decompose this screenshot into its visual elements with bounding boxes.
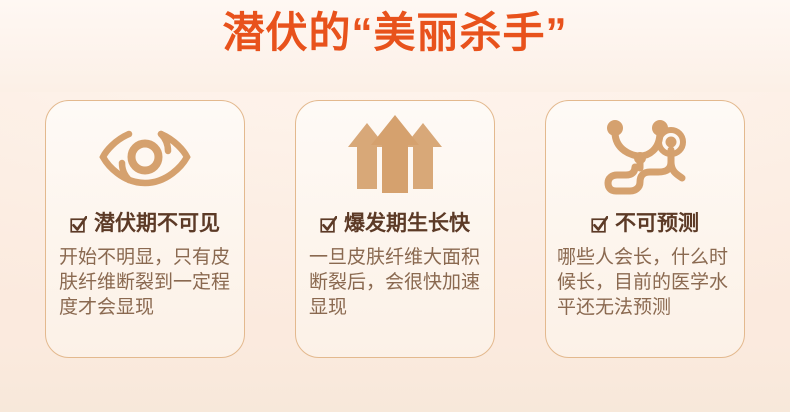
card-heading-row: 不可预测 <box>591 209 699 239</box>
checkbox-checked-icon <box>320 216 337 233</box>
eye-icon <box>99 121 191 193</box>
card-icon-container <box>546 101 744 213</box>
checkbox-checked-icon <box>70 216 87 233</box>
stethoscope-network-icon <box>602 116 688 198</box>
card-heading-row: 潜伏期不可见 <box>70 209 220 239</box>
card-icon-container <box>296 101 494 213</box>
checkbox-checked-icon <box>591 216 608 233</box>
card-title: 不可预测 <box>615 211 699 237</box>
page-title: 潜伏的“美丽杀手” <box>222 4 567 62</box>
infographic-page: 潜伏的“美丽杀手” 潜伏期不可见 <box>0 0 790 412</box>
card-icon-container <box>46 101 244 213</box>
feature-card-fast-growth[interactable]: 爆发期生长快 一旦皮肤纤维大面积断裂后，会很快加速显现 <box>295 100 495 358</box>
card-body-text: 开始不明显，只有皮肤纤维断裂到一定程度才会显现 <box>59 245 231 320</box>
feature-card-list: 潜伏期不可见 开始不明显，只有皮肤纤维断裂到一定程度才会显现 <box>45 100 745 360</box>
feature-card-latent[interactable]: 潜伏期不可见 开始不明显，只有皮肤纤维断裂到一定程度才会显现 <box>45 100 245 358</box>
card-body-text: 一旦皮肤纤维大面积断裂后，会很快加速显现 <box>309 245 481 320</box>
card-title: 潜伏期不可见 <box>94 211 220 237</box>
card-body-text: 哪些人会长，什么时候长，目前的医学水平还无法预测 <box>557 245 733 320</box>
page-title-container: 潜伏的“美丽杀手” <box>0 4 790 62</box>
card-heading-row: 爆发期生长快 <box>320 209 470 239</box>
card-title: 爆发期生长快 <box>344 211 470 237</box>
feature-card-unpredictable[interactable]: 不可预测 哪些人会长，什么时候长，目前的医学水平还无法预测 <box>545 100 745 358</box>
three-up-arrows-icon <box>345 115 445 200</box>
